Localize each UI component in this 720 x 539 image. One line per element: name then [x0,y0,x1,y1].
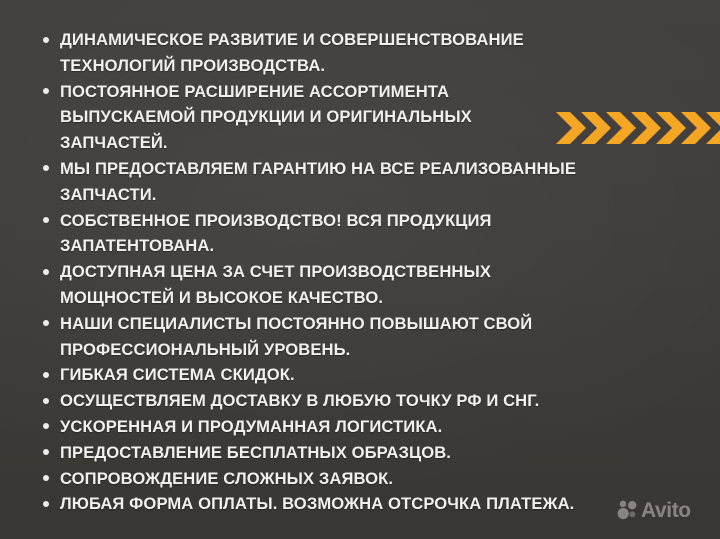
bullet-dot-icon [43,269,49,275]
bullet-dot-icon [43,475,49,481]
list-item-label: Собственное производство! Вся продукция … [60,211,492,256]
list-item: Предоставление бесплатных образцов. [36,440,584,466]
benefits-list: Динамическое развитие и совершенствовани… [36,27,584,517]
list-item: Любая форма оплаты. Возможна отсрочка пл… [36,491,584,517]
list-item: Сопровождение сложных заявок. [36,466,584,492]
list-item: Гибкая система скидок. [36,362,584,388]
list-item-label: Наши специалисты постоянно повышают свой… [60,314,532,359]
chevron-right-icon [706,112,720,144]
list-item-label: Гибкая система скидок. [60,365,295,384]
list-item-label: Предоставление бесплатных образцов. [60,443,451,462]
list-item: Мы предоставляем гарантию на все реализо… [36,156,584,208]
list-item-label: Ускоренная и продуманная логистика. [60,417,442,436]
bullet-dot-icon [43,88,49,94]
list-item-label: Осуществляем доставку в любую точку РФ и… [60,391,539,410]
bullet-dot-icon [43,449,49,455]
list-item: Постоянное расширение ассортимента выпус… [36,79,584,156]
list-item: Собственное производство! Вся продукция … [36,208,584,260]
bullet-dot-icon [43,398,49,404]
bullet-dot-icon [43,372,49,378]
bullet-dot-icon [43,217,49,223]
bullet-dot-icon [43,165,49,171]
list-item-label: Динамическое развитие и совершенствовани… [60,30,524,75]
list-item-label: Доступная цена за счет производственных … [60,262,491,307]
list-item: Динамическое развитие и совершенствовани… [36,27,584,79]
list-item: Осуществляем доставку в любую точку РФ и… [36,388,584,414]
list-item-label: Мы предоставляем гарантию на все реализо… [60,159,576,204]
slide-canvas: Динамическое развитие и совершенствовани… [0,0,720,539]
list-item-label: Любая форма оплаты. Возможна отсрочка пл… [60,494,574,513]
bullet-dot-icon [43,423,49,429]
list-item-label: Сопровождение сложных заявок. [60,469,393,488]
list-item-label: Постоянное расширение ассортимента выпус… [60,82,472,153]
list-item: Доступная цена за счет производственных … [36,259,584,311]
list-item: Наши специалисты постоянно повышают свой… [36,311,584,363]
avito-watermark: Avito [617,500,691,521]
list-item: Ускоренная и продуманная логистика. [36,414,584,440]
avito-dots-icon [617,500,638,521]
bullet-dot-icon [43,501,49,507]
avito-wordmark: Avito [641,500,691,521]
bullet-dot-icon [43,37,49,43]
bullet-dot-icon [43,320,49,326]
